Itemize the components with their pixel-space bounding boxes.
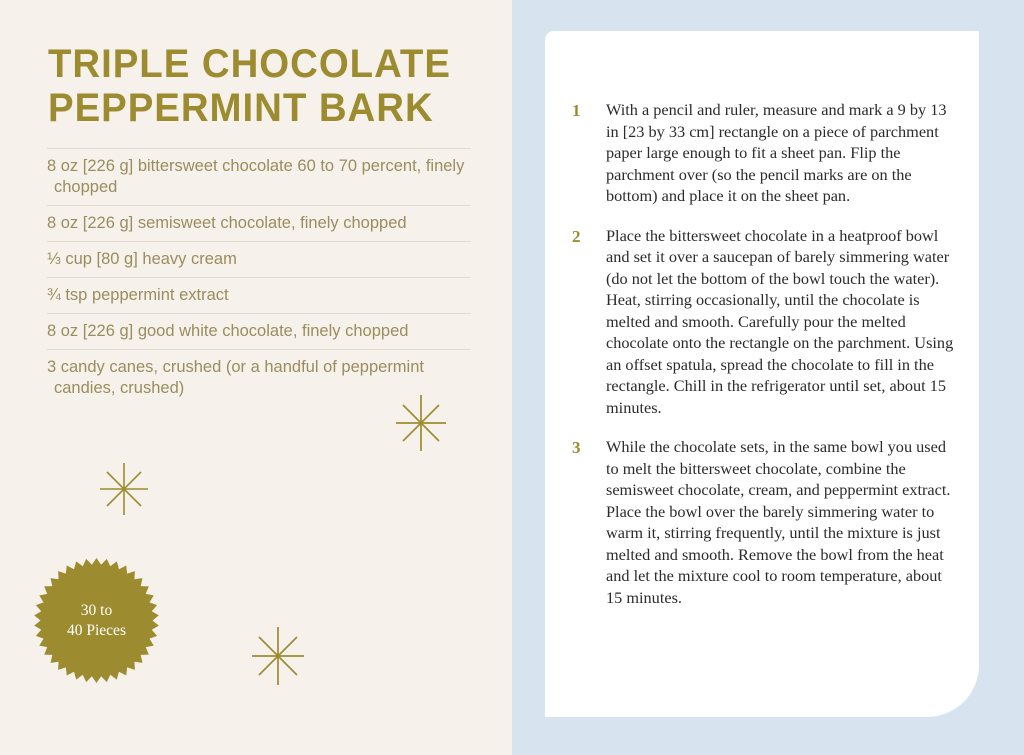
instruction-step: 1 With a pencil and ruler, measure and m… — [572, 99, 960, 207]
recipe-page: Triple Chocolate Peppermint Bark 8 oz [2… — [0, 0, 1024, 755]
ingredient-item: 8 oz [226 g] semisweet chocolate, finely… — [47, 205, 471, 241]
instruction-step: 2 Place the bittersweet chocolate in a h… — [572, 225, 960, 419]
star-ornament-icon — [391, 393, 451, 453]
yield-badge: 30 to 40 Pieces — [33, 557, 160, 684]
page-title-line-2: Peppermint Bark — [48, 86, 461, 130]
ingredient-item: 8 oz [226 g] good white chocolate, finel… — [47, 313, 471, 349]
ingredient-item: ¾ tsp peppermint extract — [47, 277, 471, 313]
step-text: While the chocolate sets, in the same bo… — [606, 436, 960, 608]
star-ornament-icon — [247, 625, 309, 687]
instruction-step-list: 1 With a pencil and ruler, measure and m… — [572, 99, 960, 626]
step-number: 3 — [572, 436, 606, 459]
step-text: Place the bittersweet chocolate in a hea… — [606, 225, 960, 419]
seal-shape-icon — [33, 557, 160, 684]
instruction-step: 3 While the chocolate sets, in the same … — [572, 436, 960, 608]
step-number: 1 — [572, 99, 606, 122]
step-number: 2 — [572, 225, 606, 248]
step-text: With a pencil and ruler, measure and mar… — [606, 99, 960, 207]
ingredient-list: 8 oz [226 g] bittersweet chocolate 60 to… — [47, 148, 471, 406]
star-ornament-icon — [96, 461, 152, 517]
page-title-line-1: Triple Chocolate — [48, 42, 461, 86]
ingredient-item: 8 oz [226 g] bittersweet chocolate 60 to… — [47, 148, 471, 205]
instructions-card: 1 With a pencil and ruler, measure and m… — [545, 31, 979, 717]
page-title: Triple Chocolate Peppermint Bark — [48, 42, 461, 130]
ingredients-panel: Triple Chocolate Peppermint Bark 8 oz [2… — [0, 0, 512, 755]
ingredient-item: ⅓ cup [80 g] heavy cream — [47, 241, 471, 277]
